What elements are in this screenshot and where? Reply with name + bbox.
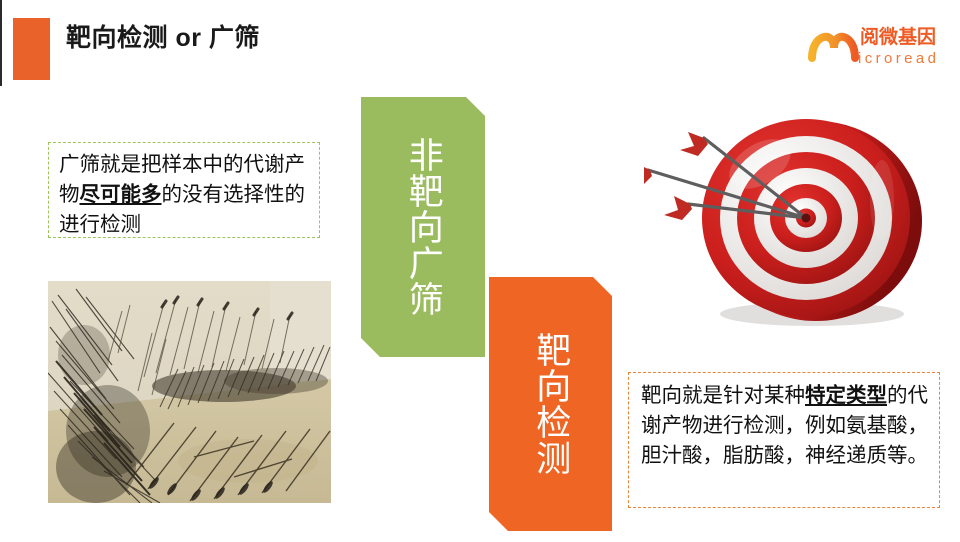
- targeted-description-box: 靶向就是针对某种特定类型的代谢产物进行检测，例如氨基酸，胆汁酸，脂肪酸，神经递质…: [628, 372, 940, 508]
- broad-screen-text: 广筛就是把样本中的代谢产物尽可能多的没有选择性的进行检测: [59, 150, 309, 240]
- banner-nontargeted-label: 非靶向广筛: [400, 137, 446, 317]
- banner-targeted: 靶向检测: [489, 277, 612, 531]
- page-title: 靶向检测 or 广筛: [66, 18, 686, 58]
- scattered-arrows-photo: [48, 281, 331, 503]
- logo-latin-text: icroread: [858, 50, 939, 67]
- banner-nontargeted: 非靶向广筛: [361, 97, 485, 357]
- left-edge-rule: [0, 0, 2, 86]
- targeted-text-emphasis: 特定类型: [805, 384, 887, 407]
- banner-targeted-label: 靶向检测: [528, 332, 574, 476]
- broad-screen-text-emphasis: 尽可能多: [80, 183, 162, 206]
- broad-screen-description-box: 广筛就是把样本中的代谢产物尽可能多的没有选择性的进行检测: [48, 142, 320, 238]
- logo-chinese-text: 阅微基因: [860, 25, 936, 48]
- targeted-text: 靶向就是针对某种特定类型的代谢产物进行检测，例如氨基酸，胆汁酸，脂肪酸，神经递质…: [641, 381, 929, 471]
- bullseye-target-photo: [644, 108, 934, 333]
- brand-logo: 阅微基因 icroread: [808, 18, 948, 70]
- slide-canvas: 靶向检测 or 广筛 阅微基因 icroread 广筛就是把样本中的代谢产物尽可…: [0, 0, 960, 542]
- title-accent-bar: [13, 18, 50, 80]
- targeted-text-part1: 靶向就是针对某种: [641, 384, 805, 407]
